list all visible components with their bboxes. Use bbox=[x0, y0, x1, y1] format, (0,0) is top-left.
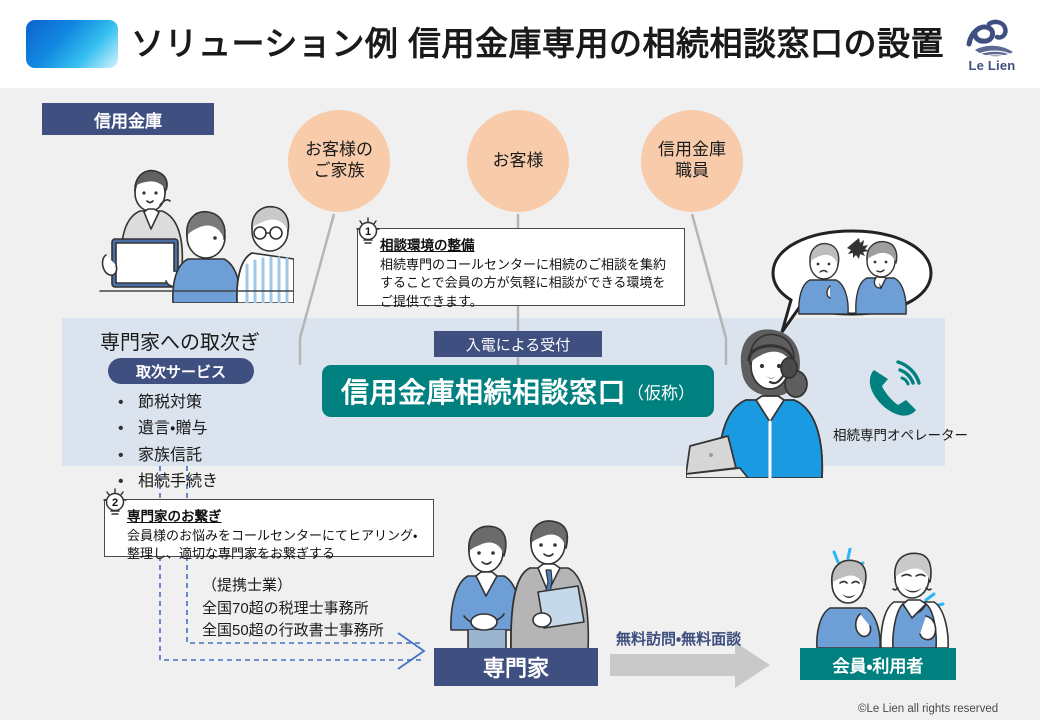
label-shinkin: 信用金庫 bbox=[42, 103, 214, 135]
label-incoming-call-reception: 入電による受付 bbox=[434, 331, 602, 357]
actor-label-line1: お客様 bbox=[493, 151, 544, 172]
list-item: •相続手続き bbox=[118, 469, 218, 495]
callout-number: 2 bbox=[112, 497, 118, 509]
page-title: ソリューション例 信用金庫専用の相続相談窓口の設置 bbox=[131, 18, 944, 70]
happy-members-illustration bbox=[808, 548, 956, 648]
logo-text: Le Lien bbox=[951, 58, 1033, 73]
call-center-operator-illustration bbox=[686, 318, 846, 478]
callout-number: 1 bbox=[365, 226, 371, 238]
lightbulb-number-2-icon: 2 bbox=[102, 487, 128, 517]
copyright-notice: ©Le Lien all rights reserved bbox=[858, 703, 998, 715]
list-item: •遺言・贈与 bbox=[118, 416, 218, 442]
label-free-visit-consultation: 無料訪問・無料面談 bbox=[616, 628, 741, 649]
actor-label-line1: 信用金庫 bbox=[658, 140, 726, 159]
slide-root: ソリューション例 信用金庫専用の相続相談窓口の設置 Le Lien bbox=[0, 0, 1040, 720]
main-banner-consultation-desk: 信用金庫相続相談窓口（仮称） bbox=[322, 365, 714, 417]
callout-expert-connection: 専門家のお繋ぎ 会員様のお悩みをコールセンターにてヒアリング・整理し、適切な専門… bbox=[104, 499, 434, 557]
bank-branch-illustration bbox=[82, 143, 294, 303]
actor-circle-shinkin-staff: 信用金庫 職員 bbox=[641, 110, 743, 212]
callout-body: 会員様のお悩みをコールセンターにてヒアリング・整理し、適切な専門家をお繋ぎする bbox=[127, 527, 425, 564]
actor-circle-customer-family: お客様の ご家族 bbox=[288, 110, 390, 212]
label-member-user: 会員・利用者 bbox=[800, 648, 956, 680]
slide-body: 信用金庫 bbox=[0, 88, 1040, 720]
callout-title: 専門家のお繋ぎ bbox=[127, 505, 425, 525]
main-banner-suffix: （仮称） bbox=[627, 379, 695, 404]
label-expert: 専門家 bbox=[434, 648, 598, 686]
panel-title-referral: 専門家への取次ぎ bbox=[100, 326, 260, 355]
service-label: 節税対策 bbox=[138, 394, 202, 411]
callout-title: 相談環境の整備 bbox=[380, 234, 676, 254]
experts-illustration bbox=[444, 520, 592, 652]
main-banner-text: 信用金庫相続相談窓口 bbox=[341, 371, 626, 411]
partner-line-1: 全国70超の税理士事務所 bbox=[202, 598, 384, 621]
actor-label-line1: お客様の bbox=[305, 140, 373, 159]
actor-label-line2: ご家族 bbox=[314, 161, 365, 180]
header-accent-square bbox=[26, 20, 118, 68]
referral-service-list: •節税対策 •遺言・贈与 •家族信託 •相続手続き bbox=[118, 390, 218, 496]
callout-body: 相続専門のコールセンターに相続のご相談を集約することで会員の方が気軽に相談ができ… bbox=[380, 256, 676, 311]
partner-firms-block: （提携士業） 全国70超の税理士事務所 全国50超の行政書士事務所 bbox=[202, 575, 384, 643]
service-label: 家族信託 bbox=[138, 447, 202, 464]
pill-referral-service: 取次サービス bbox=[108, 358, 254, 384]
actor-circle-customer: お客様 bbox=[467, 110, 569, 212]
list-item: •家族信託 bbox=[118, 443, 218, 469]
label-inheritance-operator: 相続専門オペレーター bbox=[833, 424, 968, 444]
service-label: 遺言・贈与 bbox=[138, 420, 207, 437]
partner-heading: （提携士業） bbox=[202, 575, 384, 598]
lightbulb-number-1-icon: 1 bbox=[355, 216, 381, 246]
slide-header: ソリューション例 信用金庫専用の相続相談窓口の設置 Le Lien bbox=[0, 0, 1040, 88]
partner-line-2: 全国50超の行政書士事務所 bbox=[202, 620, 384, 643]
list-item: •節税対策 bbox=[118, 390, 218, 416]
callout-consultation-environment: 相談環境の整備 相続専門のコールセンターに相続のご相談を集約することで会員の方が… bbox=[357, 228, 685, 306]
phone-ringing-icon bbox=[862, 360, 924, 422]
actor-label-line2: 職員 bbox=[675, 161, 709, 180]
service-label: 相続手続き bbox=[138, 473, 218, 490]
